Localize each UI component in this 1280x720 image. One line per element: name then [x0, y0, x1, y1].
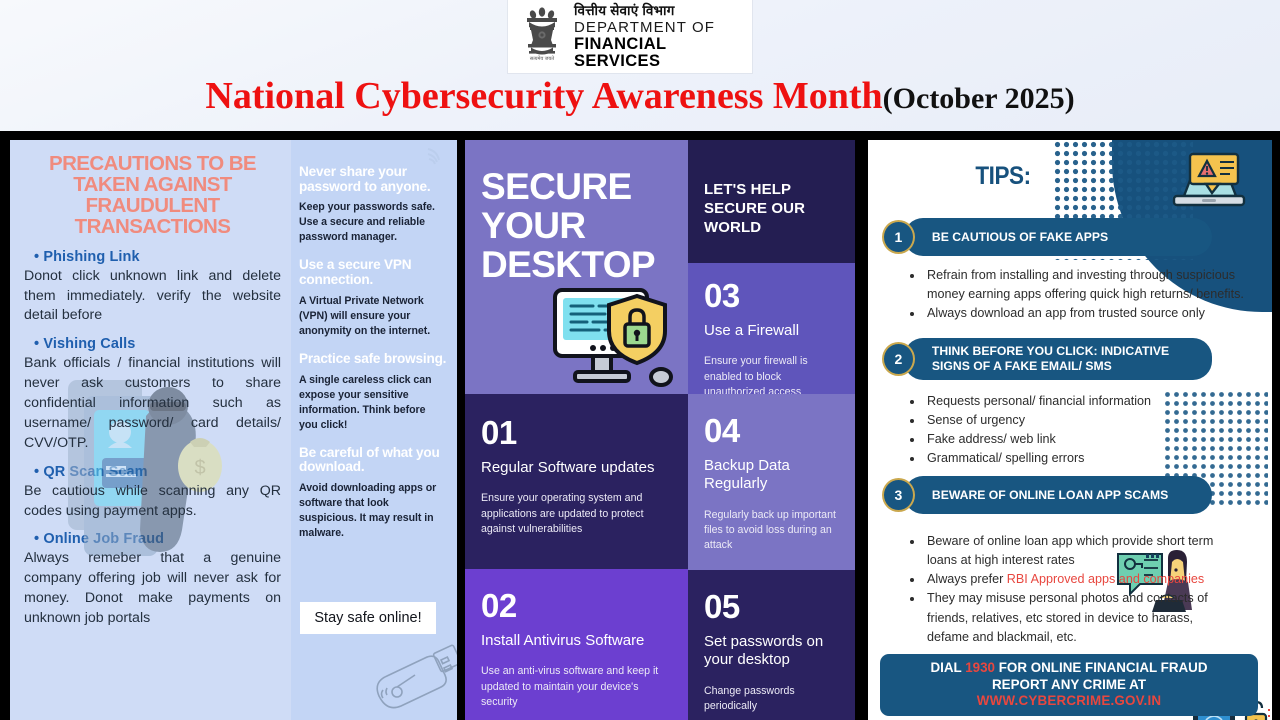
- panel1-tip-head: Use a secure VPN connection.: [299, 258, 447, 287]
- tip-number-badge: 1: [882, 220, 915, 254]
- panel-precautions: PRECAUTIONS TO BE TAKEN AGAINST FRAUDULE…: [10, 140, 457, 720]
- dial-prefix: DIAL: [930, 660, 965, 675]
- department-name-line2: FINANCIAL SERVICES: [574, 36, 746, 69]
- emblem-motto: सत्यमेव जयते: [530, 55, 554, 62]
- tip-row-2: 2 THINK BEFORE YOU CLICK: INDICATIVE SIG…: [882, 338, 1212, 380]
- panel1-section-title: Online Job Fraud: [34, 531, 281, 547]
- tip-2-bullets: Requests personal/ financial information…: [910, 392, 1210, 469]
- list-item: Fake address/ web link: [924, 430, 1210, 449]
- panel1-tip-body: A single careless click can expose your …: [299, 373, 447, 433]
- tip-1-bullets: Refrain from installing and investing th…: [910, 266, 1250, 323]
- department-emblem-block: सत्यमेव जयते वित्तीय सेवाएं विभाग DEPART…: [508, 0, 752, 73]
- panel1-tip-body: Keep your passwords safe. Use a secure a…: [299, 200, 447, 245]
- desktop-shield-lock-icon: [549, 280, 684, 394]
- list-item: They may misuse personal photos and cont…: [924, 589, 1230, 646]
- panel2-item-number: 01: [481, 416, 668, 449]
- panel2-item-number: 03: [704, 279, 839, 312]
- panel1-section-title: QR Scan Scam: [34, 464, 281, 480]
- list-item: Sense of urgency: [924, 411, 1210, 430]
- dial-emergency-banner: DIAL 1930 FOR ONLINE FINANCIAL FRAUD REP…: [880, 654, 1258, 716]
- panel2-item-title: Use a Firewall: [704, 322, 839, 340]
- dial-number: 1930: [965, 660, 995, 675]
- panel2-item-01: 01 Regular Software updates Ensure your …: [465, 394, 688, 569]
- tip-row-1: 1 BE CAUTIOUS OF FAKE APPS: [882, 218, 1212, 256]
- panel1-tip-body: Avoid downloading apps or software that …: [299, 481, 447, 541]
- laptop-warning-icon: [1166, 150, 1252, 224]
- panel2-item-desc: Use an anti-virus software and keep it u…: [481, 664, 672, 710]
- tip-row-3: 3 BEWARE OF ONLINE LOAN APP SCAMS: [882, 476, 1212, 514]
- dial-suffix: FOR ONLINE FINANCIAL FRAUD: [995, 660, 1208, 675]
- panel1-tip-head: Be careful of what you download.: [299, 446, 447, 475]
- panel2-item-number: 04: [704, 414, 839, 447]
- swirl-decoration-icon: [424, 144, 450, 170]
- panel2-item-desc: Ensure your operating system and applica…: [481, 491, 668, 537]
- panel2-right-column: LET'S HELP SECURE OUR WORLD 03 Use a Fir…: [688, 140, 855, 720]
- panel2-item-05: 05 Set passwords on your desktop Change …: [688, 570, 855, 720]
- panel2-item-desc: Regularly back up important files to avo…: [704, 508, 839, 554]
- list-item: Refrain from installing and investing th…: [924, 266, 1250, 304]
- panel-tips: TIPS: 1 BE CAUTIOUS OF FAKE APPS Refrain…: [868, 140, 1272, 720]
- panel2-world-title: LET'S HELP SECURE OUR WORLD: [704, 180, 839, 238]
- list-item: Requests personal/ financial information: [924, 392, 1210, 411]
- dial-line-1: DIAL 1930 FOR ONLINE FINANCIAL FRAUD: [930, 660, 1207, 677]
- page-title-main: National Cybersecurity Awareness Month: [205, 75, 882, 117]
- cybercrime-url: WWW.CYBERCRIME.GOV.IN: [977, 693, 1161, 710]
- panel1-tip-body: A Virtual Private Network (VPN) will ens…: [299, 294, 447, 339]
- page-header: सत्यमेव जयते वित्तीय सेवाएं विभाग DEPART…: [0, 0, 1280, 131]
- panel2-world-banner: LET'S HELP SECURE OUR WORLD: [688, 140, 855, 263]
- panel2-item-number: 02: [481, 589, 672, 622]
- panel1-section-body: Always remeber that a genuine company of…: [24, 549, 281, 629]
- panel1-right-column: Never share your password to anyone. Kee…: [291, 140, 457, 720]
- page-title-suffix: (October 2025): [883, 82, 1075, 115]
- panel2-item-title: Regular Software updates: [481, 459, 668, 477]
- list-item: Beware of online loan app which provide …: [924, 532, 1230, 570]
- panel-secure-desktop: SECURE YOUR DESKTOP: [465, 140, 855, 720]
- tip-number-badge: 3: [882, 478, 915, 512]
- list-item: Grammatical/ spelling errors: [924, 449, 1210, 468]
- panel2-item-03: 03 Use a Firewall Ensure your firewall i…: [688, 263, 855, 394]
- usb-drive-icon: [371, 640, 457, 718]
- panel1-section-body: Be cautious while scanning any QR codes …: [24, 482, 281, 522]
- dial-line-2: REPORT ANY CRIME AT: [992, 677, 1146, 694]
- panel2-item-desc: Change passwords periodically: [704, 684, 839, 715]
- tip-3-bullets: Beware of online loan app which provide …: [910, 532, 1230, 647]
- panel2-left-column: SECURE YOUR DESKTOP: [465, 140, 688, 720]
- tip-number-badge: 2: [882, 342, 915, 376]
- panel1-section-body: Donot click unknown link and delete them…: [24, 267, 281, 327]
- panel2-item-title: Install Antivirus Software: [481, 632, 672, 650]
- department-name-line1: DEPARTMENT OF: [574, 20, 746, 35]
- panel2-item-number: 05: [704, 590, 839, 623]
- panel1-section-body: Bank officials / financial institutions …: [24, 354, 281, 453]
- stay-safe-banner: Stay safe online!: [300, 602, 436, 634]
- tip-label-pill: THINK BEFORE YOU CLICK: INDICATIVE SIGNS…: [904, 338, 1212, 380]
- bullet-highlight: RBI Approved apps and companies: [1007, 572, 1204, 586]
- panel1-section-title: Phishing Link: [34, 249, 281, 265]
- list-item: Always download an app from trusted sour…: [924, 304, 1250, 323]
- tip-label-pill: BE CAUTIOUS OF FAKE APPS: [904, 218, 1212, 256]
- poster-strip: PRECAUTIONS TO BE TAKEN AGAINST FRAUDULE…: [0, 131, 1280, 720]
- national-emblem-icon: सत्यमेव जयते: [516, 4, 568, 70]
- panel2-item-title: Set passwords on your desktop: [704, 633, 839, 670]
- bullet-prefix: Always prefer: [927, 572, 1007, 586]
- list-item: Always prefer RBI Approved apps and comp…: [924, 570, 1230, 589]
- department-name-block: वित्तीय सेवाएं विभाग DEPARTMENT OF FINAN…: [574, 4, 746, 70]
- panel1-tip-head: Practice safe browsing.: [299, 352, 447, 367]
- page-title: National Cybersecurity Awareness Month(O…: [0, 74, 1280, 118]
- panel2-item-desc: Ensure your firewall is enabled to block…: [704, 354, 839, 394]
- department-name-hindi: वित्तीय सेवाएं विभाग: [574, 4, 746, 18]
- panel2-item-title: Backup Data Regularly: [704, 457, 839, 494]
- panel1-left-column: PRECAUTIONS TO BE TAKEN AGAINST FRAUDULE…: [10, 140, 291, 720]
- panel2-item-04: 04 Backup Data Regularly Regularly back …: [688, 394, 855, 570]
- panel2-hero-title: SECURE YOUR DESKTOP: [481, 168, 688, 285]
- panel2-hero: SECURE YOUR DESKTOP: [465, 140, 688, 394]
- tip-label-pill: BEWARE OF ONLINE LOAN APP SCAMS: [904, 476, 1212, 514]
- panel1-section-title: Vishing Calls: [34, 336, 281, 352]
- tips-title: TIPS:: [882, 162, 1125, 191]
- panel1-heading: PRECAUTIONS TO BE TAKEN AGAINST FRAUDULE…: [24, 154, 281, 238]
- panel2-item-02: 02 Install Antivirus Software Use an ant…: [465, 569, 688, 720]
